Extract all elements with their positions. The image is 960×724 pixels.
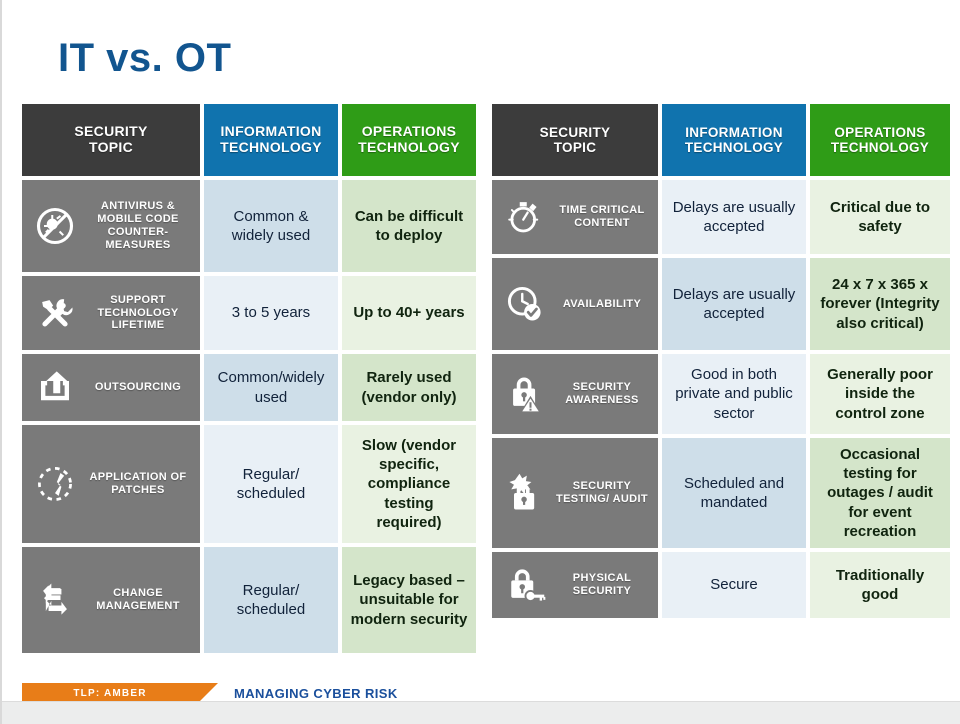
it-value-cell: Common & widely used xyxy=(204,180,338,272)
topic-label: OUTSOURCING xyxy=(86,381,190,394)
table-row: AVAILABILITY Delays are usually accepted… xyxy=(492,258,950,350)
topic-label: AVAILABILITY xyxy=(556,298,648,311)
it-value-cell: Regular/ scheduled xyxy=(204,547,338,653)
table-row: PHYSICAL SECURITY Secure Traditionally g… xyxy=(492,552,950,618)
header-security-topic-line1: SECURITY xyxy=(540,125,611,140)
topic-label: PHYSICAL SECURITY xyxy=(556,572,648,598)
it-value-cell: Delays are usually accepted xyxy=(662,258,806,350)
header-information-technology: INFORMATION TECHNOLOGY xyxy=(204,104,338,176)
lock-key-icon xyxy=(500,561,550,609)
topic-cell: TIME CRITICAL CONTENT xyxy=(492,180,658,254)
topic-label: SECURITY TESTING/ AUDIT xyxy=(556,480,648,506)
ot-value-cell: Generally poor inside the control zone xyxy=(810,354,950,434)
header-security-topic-line2: TOPIC xyxy=(74,140,147,156)
share-export-icon xyxy=(30,364,80,412)
ot-value-cell: Slow (vendor specific, compliance testin… xyxy=(342,425,476,543)
topic-label: CHANGE MANAGEMENT xyxy=(86,587,190,613)
header-security-topic-line1: SECURITY xyxy=(74,124,147,140)
topic-cell: OUTSOURCING xyxy=(22,354,200,421)
table-row: CHANGE MANAGEMENT Regular/ scheduled Leg… xyxy=(22,547,476,653)
patch-dashed-circle-icon xyxy=(30,460,80,508)
table-header-row: SECURITY TOPIC INFORMATION TECHNOLOGY OP… xyxy=(492,104,950,176)
header-security-topic: SECURITY TOPIC xyxy=(492,104,658,176)
it-value-cell: Good in both private and public sector xyxy=(662,354,806,434)
table-row: OUTSOURCING Common/widely used Rarely us… xyxy=(22,354,476,421)
topic-label: SECURITY AWARENESS xyxy=(556,381,648,407)
topic-cell: SECURITY TESTING/ AUDIT xyxy=(492,438,658,548)
lock-warning-icon xyxy=(500,370,550,418)
topic-cell: CHANGE MANAGEMENT xyxy=(22,547,200,653)
page-title: IT vs. OT xyxy=(58,36,231,81)
tlp-label: TLP: AMBER xyxy=(73,688,146,699)
header-operations-technology-line1: OPERATIONS xyxy=(358,124,460,140)
topic-cell: AVAILABILITY xyxy=(492,258,658,350)
header-operations-technology-line1: OPERATIONS xyxy=(831,125,929,140)
header-operations-technology-line2: TECHNOLOGY xyxy=(831,140,929,155)
comparison-table-right: SECURITY TOPIC INFORMATION TECHNOLOGY OP… xyxy=(492,104,950,618)
topic-label: SUPPORT TECHNOLOGY LIFETIME xyxy=(86,294,190,333)
cycle-arrows-icon xyxy=(30,576,80,624)
header-operations-technology-line2: TECHNOLOGY xyxy=(358,140,460,156)
header-information-technology-line1: INFORMATION xyxy=(220,124,322,140)
header-operations-technology: OPERATIONS TECHNOLOGY xyxy=(810,104,950,176)
wrench-hammer-icon xyxy=(30,289,80,337)
topic-cell: APPLICATION OF PATCHES xyxy=(22,425,200,543)
it-value-cell: 3 to 5 years xyxy=(204,276,338,350)
topic-label: APPLICATION OF PATCHES xyxy=(86,471,190,497)
ot-value-cell: Occasional testing for outages / audit f… xyxy=(810,438,950,548)
ot-value-cell: Rarely used (vendor only) xyxy=(342,354,476,421)
it-value-cell: Secure xyxy=(662,552,806,618)
table-row: SECURITY TESTING/ AUDIT Scheduled and ma… xyxy=(492,438,950,548)
header-information-technology-line1: INFORMATION xyxy=(685,125,783,140)
table-header-row: SECURITY TOPIC INFORMATION TECHNOLOGY OP… xyxy=(22,104,476,176)
tlp-amber-banner: TLP: AMBER xyxy=(22,683,198,703)
ot-value-cell: Traditionally good xyxy=(810,552,950,618)
it-value-cell: Common/widely used xyxy=(204,354,338,421)
bottom-band xyxy=(2,701,960,724)
header-information-technology-line2: TECHNOLOGY xyxy=(220,140,322,156)
it-value-cell: Delays are usually accepted xyxy=(662,180,806,254)
footer-title: MANAGING CYBER RISK xyxy=(234,686,398,701)
topic-cell: PHYSICAL SECURITY xyxy=(492,552,658,618)
ot-value-cell: Critical due to safety xyxy=(810,180,950,254)
header-security-topic: SECURITY TOPIC xyxy=(22,104,200,176)
ot-value-cell: Legacy based – unsuitable for modern sec… xyxy=(342,547,476,653)
topic-cell: ANTIVIRUS & MOBILE CODE COUNTER-MEASURES xyxy=(22,180,200,272)
ot-value-cell: Can be difficult to deploy xyxy=(342,180,476,272)
header-security-topic-line2: TOPIC xyxy=(540,140,611,155)
header-operations-technology: OPERATIONS TECHNOLOGY xyxy=(342,104,476,176)
topic-label: ANTIVIRUS & MOBILE CODE COUNTER-MEASURES xyxy=(86,200,190,252)
table-row: SECURITY AWARENESS Good in both private … xyxy=(492,354,950,434)
table-row: SUPPORT TECHNOLOGY LIFETIME 3 to 5 years… xyxy=(22,276,476,350)
table-row: APPLICATION OF PATCHES Regular/ schedule… xyxy=(22,425,476,543)
ot-value-cell: 24 x 7 x 365 x forever (Integrity also c… xyxy=(810,258,950,350)
lock-burst-icon xyxy=(500,469,550,517)
slide-canvas: IT vs. OT SECURITY TOPIC INFORMATION TEC… xyxy=(0,0,960,724)
topic-label: TIME CRITICAL CONTENT xyxy=(556,204,648,230)
topic-cell: SECURITY AWARENESS xyxy=(492,354,658,434)
table-row: TIME CRITICAL CONTENT Delays are usually… xyxy=(492,180,950,254)
header-information-technology: INFORMATION TECHNOLOGY xyxy=(662,104,806,176)
table-row: ANTIVIRUS & MOBILE CODE COUNTER-MEASURES… xyxy=(22,180,476,272)
comparison-table-left: SECURITY TOPIC INFORMATION TECHNOLOGY OP… xyxy=(22,104,476,653)
stopwatch-icon xyxy=(500,193,550,241)
ot-value-cell: Up to 40+ years xyxy=(342,276,476,350)
header-information-technology-line2: TECHNOLOGY xyxy=(685,140,783,155)
no-virus-icon xyxy=(30,202,80,250)
topic-cell: SUPPORT TECHNOLOGY LIFETIME xyxy=(22,276,200,350)
it-value-cell: Regular/ scheduled xyxy=(204,425,338,543)
clock-check-icon xyxy=(500,280,550,328)
it-value-cell: Scheduled and mandated xyxy=(662,438,806,548)
